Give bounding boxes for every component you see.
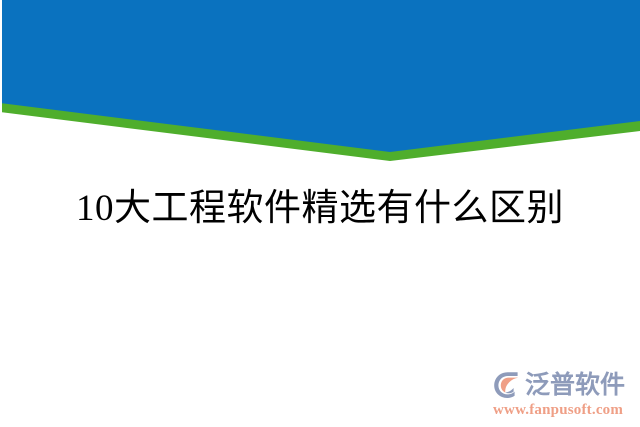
brand-url: www.fanpusoft.com — [493, 402, 623, 419]
fanpu-swirl-icon — [492, 370, 522, 400]
page-title-text: 10大工程软件精选有什么区别 — [76, 186, 564, 232]
left-edge-margin — [0, 0, 2, 175]
slide-canvas: 10大工程软件精选有什么区别 泛普软件 www.fanpusoft.com — [0, 0, 640, 427]
brand-logo: 泛普软件 www.fanpusoft.com — [492, 368, 632, 419]
page-title: 10大工程软件精选有什么区别 — [0, 186, 640, 232]
banner-green-band — [0, 0, 640, 161]
chevron-banner — [0, 0, 640, 175]
brand-name: 泛普软件 — [525, 371, 625, 399]
brand-logo-row: 泛普软件 — [492, 368, 625, 401]
banner-blue-shape — [0, 0, 640, 152]
